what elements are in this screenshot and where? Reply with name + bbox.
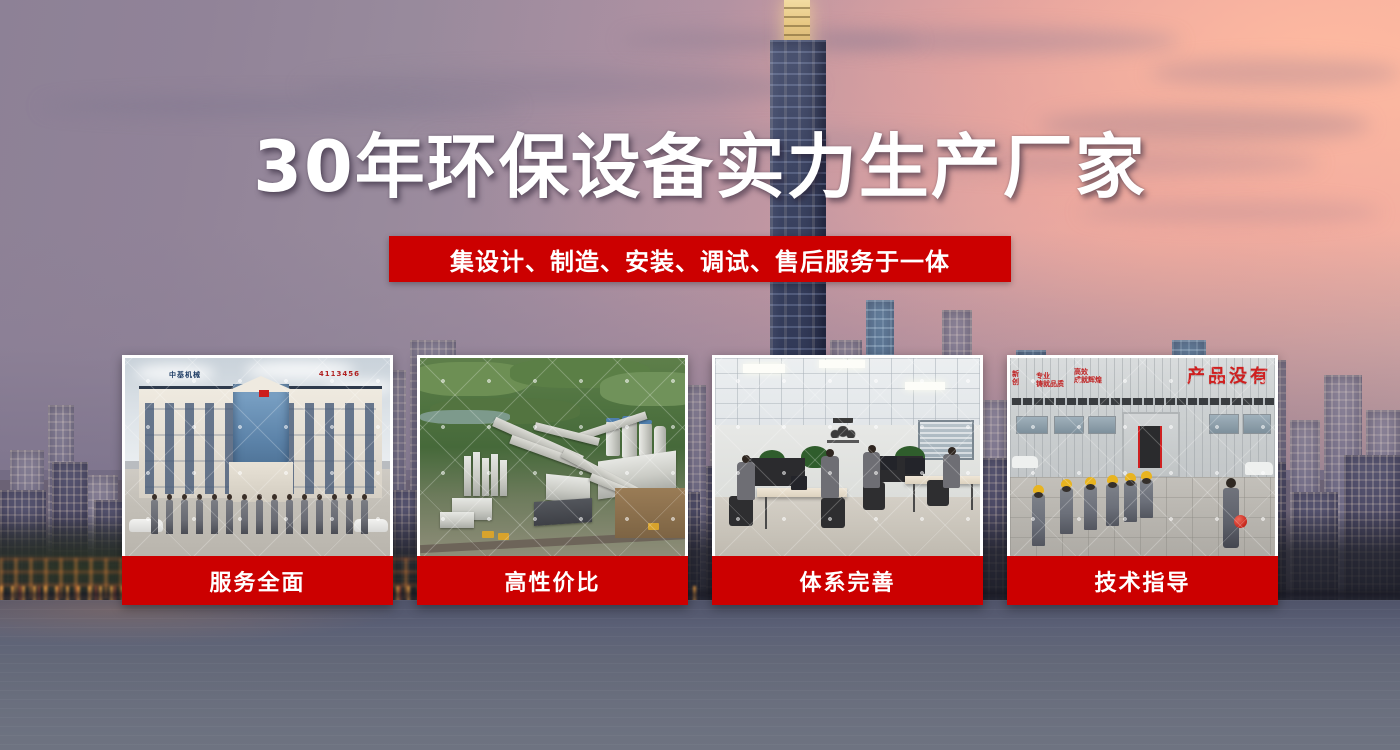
building-phone-text: 4113456	[319, 370, 360, 378]
hero-banner: 30年环保设备实力生产厂家 集设计、制造、安装、调试、售后服务于一体 中基机械 …	[0, 0, 1400, 750]
feature-card-system[interactable]: 体系完善	[712, 355, 983, 605]
card-label: 服务全面	[122, 556, 393, 605]
feature-card-service[interactable]: 中基机械 4113456	[122, 355, 393, 605]
feature-card-guidance[interactable]: 产品没有 新创 专业铸就品质 高效成就辉煌	[1007, 355, 1278, 605]
river-water	[0, 600, 1400, 750]
feature-card-row: 中基机械 4113456	[122, 355, 1278, 605]
card-label: 技术指导	[1007, 556, 1278, 605]
aerial-production-plant-photo	[417, 355, 688, 556]
subtitle-text: 集设计、制造、安装、调试、售后服务于一体	[450, 242, 950, 277]
building-sign-text: 中基机械	[169, 370, 201, 380]
feature-card-value[interactable]: 高性价比	[417, 355, 688, 605]
subtitle-banner: 集设计、制造、安装、调试、售后服务于一体	[389, 236, 1011, 282]
factory-slogan-text: 产品没有	[1187, 362, 1271, 388]
workshop-training-photo: 产品没有 新创 专业铸就品质 高效成就辉煌	[1007, 355, 1278, 556]
company-headquarters-building-photo: 中基机械 4113456	[122, 355, 393, 556]
page-title: 30年环保设备实力生产厂家	[0, 132, 1400, 202]
wall-decal	[825, 418, 861, 446]
card-label: 体系完善	[712, 556, 983, 605]
card-label: 高性价比	[417, 556, 688, 605]
office-interior-photo	[712, 355, 983, 556]
